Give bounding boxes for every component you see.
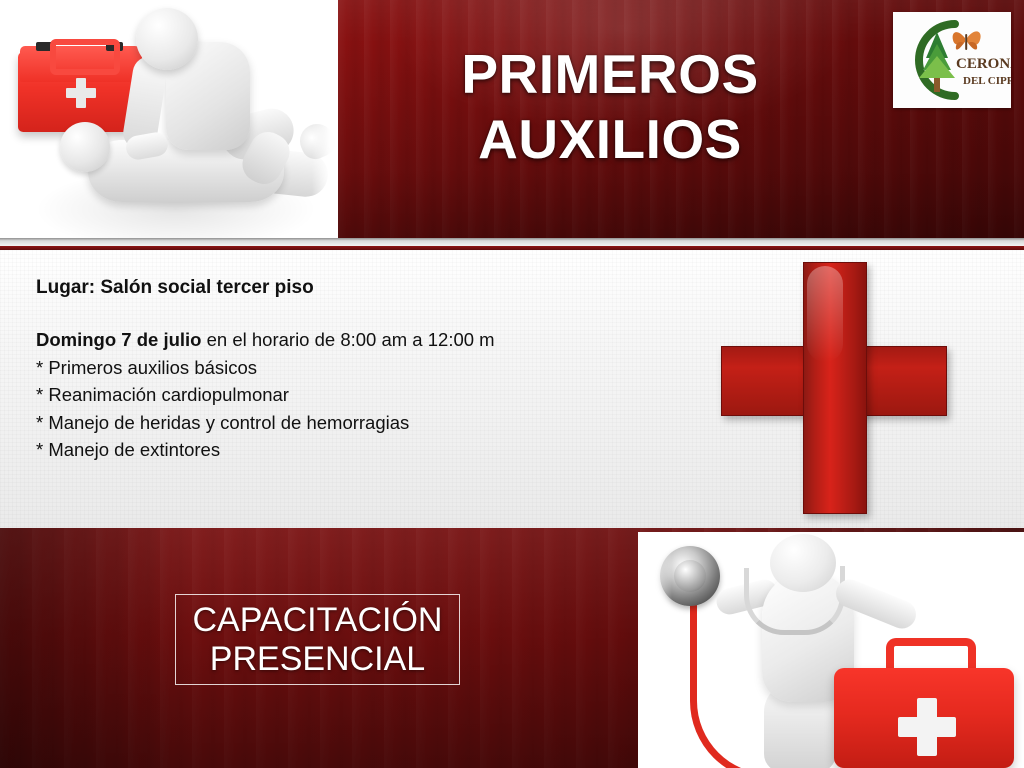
rescuer-head xyxy=(136,8,198,70)
divider-gray xyxy=(0,238,1024,246)
date-rest: en el horario de 8:00 am a 12:00 m xyxy=(201,329,494,350)
logo-artwork: CERONA DEL CIPRÉS xyxy=(893,12,1011,108)
butterfly-icon xyxy=(953,31,981,50)
place-label: Lugar: Salón social tercer piso xyxy=(36,278,676,297)
badge-text: CAPACITACIÓN PRESENCIAL xyxy=(193,601,443,677)
topic-item-1: * Primeros auxilios básicos xyxy=(36,359,676,378)
cross-gloss xyxy=(807,266,843,362)
red-cross-icon xyxy=(721,262,945,512)
cpr-scene xyxy=(0,0,338,238)
badge-line-2: PRESENCIAL xyxy=(193,640,443,678)
logo-name-line-2: DEL CIPRÉS xyxy=(963,75,1011,87)
logo-name-line-1: CERONA xyxy=(956,56,1011,72)
tree-base-icon xyxy=(919,56,955,78)
topic-item-4: * Manejo de extintores xyxy=(36,441,676,460)
case-white-cross-icon xyxy=(898,698,956,756)
first-aid-kit-icon xyxy=(18,34,142,132)
stethoscope-chestpiece-icon xyxy=(660,546,720,606)
cpr-illustration xyxy=(0,0,338,238)
content-text-block: Lugar: Salón social tercer piso Domingo … xyxy=(36,278,676,469)
status-badge: CAPACITACIÓN PRESENCIAL xyxy=(175,594,460,685)
white-cross-icon xyxy=(66,78,96,108)
page-title: PRIMEROS AUXILIOS xyxy=(340,42,880,172)
date-line: Domingo 7 de julio en el horario de 8:00… xyxy=(36,331,676,350)
victim-head xyxy=(60,122,110,172)
topic-item-2: * Reanimación cardiopulmonar xyxy=(36,386,676,405)
date-bold: Domingo 7 de julio xyxy=(36,329,201,350)
title-line-2: AUXILIOS xyxy=(340,107,880,172)
doctor-scene xyxy=(638,532,1024,768)
doctor-illustration xyxy=(638,532,1024,768)
badge-line-1: CAPACITACIÓN xyxy=(193,601,443,639)
topic-item-3: * Manejo de heridas y control de hemorra… xyxy=(36,414,676,433)
poster-slide: PRIMEROS AUXILIOS CERONA DEL CIPRÉS xyxy=(0,0,1024,768)
company-logo: CERONA DEL CIPRÉS xyxy=(893,12,1011,108)
title-line-1: PRIMEROS xyxy=(340,42,880,107)
logo-svg: CERONA DEL CIPRÉS xyxy=(893,12,1011,108)
doctor-head xyxy=(770,534,836,592)
